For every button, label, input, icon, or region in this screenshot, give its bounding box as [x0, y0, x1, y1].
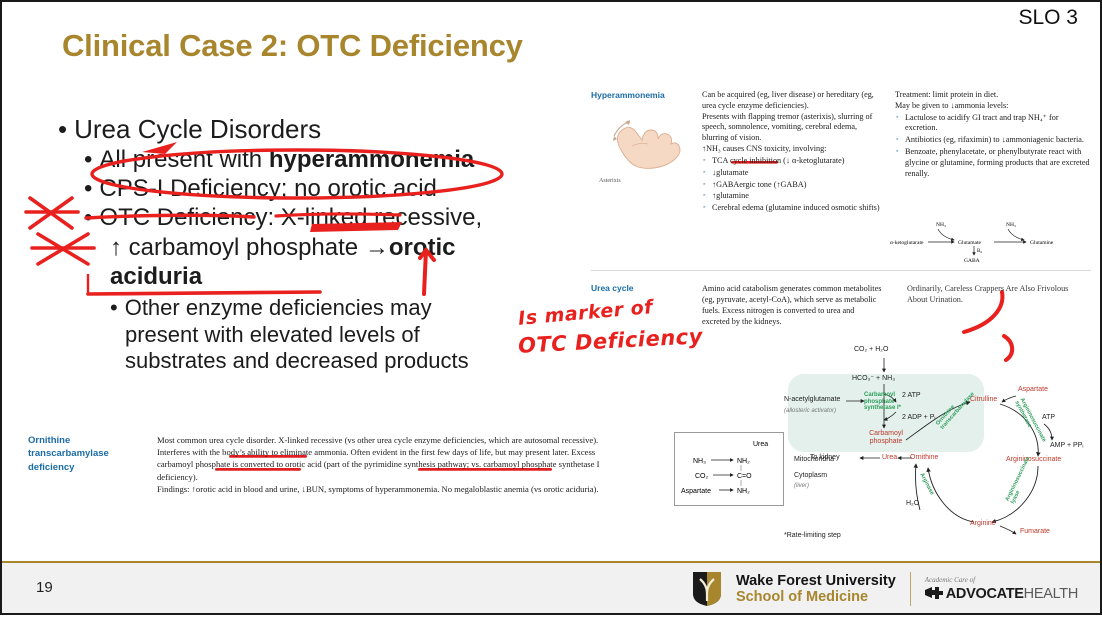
- bullet-text: CPS-I Deficiency; no orotic acid: [99, 175, 436, 203]
- panel-divider: [591, 270, 1091, 271]
- urea-cycle-mnemonic: Ordinarily, Careless Crappers Are Also F…: [907, 283, 1087, 305]
- glutamate-gaba-scheme: NH₃ NH₃ α-ketoglutarate Glutamate Glutam…: [888, 217, 1088, 263]
- asterixis-hand-icon: [602, 106, 688, 178]
- label-aspartate: Aspartate: [1018, 386, 1048, 393]
- bullet-text-prefix: ↑ carbamoyl phosphate →: [110, 234, 389, 261]
- bullet-dot-icon: •: [110, 295, 118, 321]
- scheme-nh3-right: NH₃: [1006, 222, 1016, 228]
- label-2adp-pi: 2 ADP + Pᵢ: [902, 414, 935, 421]
- advocate-thin-text: HEALTH: [1024, 586, 1078, 602]
- bullet-dot-icon: •: [84, 146, 92, 174]
- advocate-tagline: Academic Care of: [925, 576, 1078, 584]
- bullet-dot-icon: •: [84, 204, 92, 232]
- bullet-text-prefix: All present with: [99, 146, 268, 173]
- bullet-text: ↑ carbamoyl phosphate →orotic: [110, 234, 455, 262]
- urea-nh2-top: NH₂: [737, 458, 750, 465]
- footer-divider: [910, 572, 911, 606]
- list-item: Benzoate, phenylacetate, or phenylbutyra…: [905, 147, 1091, 179]
- label-n-acetylglutamate: N-acetylglutamate: [784, 396, 840, 403]
- urea-aspartate: Aspartate: [681, 488, 711, 495]
- urea-c-o: C=O: [737, 473, 752, 480]
- page-number: 19: [36, 579, 53, 596]
- label-amp-pp: AMP + PPᵢ: [1050, 442, 1083, 449]
- hyperammonemia-left-column: Can be acquired (eg, liver disease) or h…: [702, 90, 884, 215]
- advocate-bold-text: ADVOCATE: [946, 586, 1024, 602]
- otc-paragraph-2: Findings: ↑orotic acid in blood and urin…: [157, 483, 627, 495]
- label-urea: Urea: [882, 454, 897, 461]
- bullet-all-present-hyperammonemia: • All present with hyperammonemia: [84, 146, 598, 174]
- bullet-otc-deficiency: • OTC Deficiency: X-linked recessive,: [84, 204, 598, 232]
- footer-logos: Wake Forest University School of Medicin…: [692, 571, 1078, 607]
- scheme-b6: B₆: [977, 249, 982, 254]
- bullet-text-bold: orotic: [389, 234, 456, 261]
- urea-co2: CO₂: [695, 473, 709, 480]
- bullet-text: Urea Cycle Disorders: [74, 114, 321, 145]
- wake-forest-wordmark: Wake Forest University School of Medicin…: [736, 573, 896, 605]
- label-carbamoyl-phosphate: Carbamoyl phosphate: [862, 430, 910, 446]
- bullet-dot-icon: •: [58, 114, 67, 145]
- bullet-otc-line2: ↑ carbamoyl phosphate →orotic: [110, 234, 598, 262]
- wfu-line-1: Wake Forest University: [736, 573, 896, 589]
- page-title: Clinical Case 2: OTC Deficiency: [62, 28, 523, 64]
- list-item: TCA cycle inhibition (↓ α-ketoglutarate): [712, 156, 884, 167]
- label-hco3-nh3: HCO₃⁻ + NH₃: [852, 374, 895, 382]
- label-h2o: H₂O: [906, 500, 919, 507]
- label-co2-h2o: CO₂ + H₂O: [854, 346, 888, 353]
- urea-cycle-description: Amino acid catabolism generates common m…: [702, 283, 882, 327]
- scheme-nh3-left: NH₃: [936, 222, 946, 228]
- label-allosteric-activator: (allosteric activator): [784, 408, 836, 414]
- slo-tag: SLO 3: [1018, 6, 1078, 30]
- slide: SLO 3 Clinical Case 2: OTC Deficiency • …: [0, 0, 1102, 615]
- label-arginine: Arginine: [970, 520, 996, 527]
- list-item: ↓glutamate: [712, 168, 884, 179]
- bullet-text: Other enzyme deficiencies may: [125, 295, 432, 321]
- urea-nh2-bottom: NH₂: [737, 488, 750, 495]
- ha-paragraph-3: ↑NH₃ causes CNS toxicity, involving:: [702, 144, 884, 155]
- slide-footer: 19 Wake Forest University School of Medi…: [2, 561, 1100, 613]
- label-cytoplasm: Cytoplasm: [794, 472, 827, 479]
- ha-paragraph-1: Can be acquired (eg, liver disease) or h…: [702, 90, 884, 112]
- bullet-otc-line3: aciduria: [110, 263, 598, 291]
- wake-forest-shield-icon: [692, 571, 722, 607]
- urea-structure-box: Urea NH₃ NH₂ CO₂ C=O Aspartate NH₂: [674, 432, 784, 506]
- advocate-cross-icon: [925, 586, 943, 600]
- otc-deficiency-body: Most common urea cycle disorder. X-linke…: [157, 434, 627, 495]
- wfu-line-2: School of Medicine: [736, 589, 896, 605]
- label-argininosuccinate: Argininosuccinate: [1006, 456, 1061, 463]
- urea-box-title: Urea: [753, 441, 768, 448]
- label-to-kidney: To kidney: [810, 454, 840, 461]
- urea-cycle-diagram: CO₂ + H₂O HCO₃⁻ + NH₃ 2 ATP 2 ADP + Pᵢ N…: [788, 342, 1096, 542]
- list-item: Antibiotics (eg, rifaximin) to ↓ammoniag…: [905, 135, 1091, 146]
- label-fumarate: Fumarate: [1020, 528, 1050, 535]
- bullet-cps1-deficiency: • CPS-I Deficiency; no orotic acid: [84, 175, 598, 203]
- tx-paragraph-1: Treatment: limit protein in diet.: [895, 90, 1091, 101]
- label-ornithine: Ornithine: [910, 454, 938, 461]
- otc-deficiency-heading: Ornithine transcarbamylase deficiency: [28, 434, 148, 474]
- scheme-gaba: GABA: [964, 258, 980, 263]
- scheme-glutamate: Glutamate: [958, 240, 981, 246]
- hyperammonemia-treatment-column: Treatment: limit protein in diet. May be…: [895, 90, 1091, 181]
- ha-paragraph-2: Presents with flapping tremor (asterixis…: [702, 112, 884, 144]
- list-item: Cerebral edema (glutamine induced osmoti…: [712, 203, 884, 214]
- list-item: Lactulose to acidify GI tract and trap N…: [905, 113, 1091, 135]
- bullet-text: All present with hyperammonemia: [99, 146, 474, 174]
- label-cps1-enzyme: Carbamoyl phosphate synthetase I*: [864, 392, 902, 412]
- label-rate-limiting-footnote: *Rate-limiting step: [784, 532, 841, 539]
- tx-item-list: Lactulose to acidify GI tract and trap N…: [895, 113, 1091, 180]
- bullet-text-bold: hyperammonemia: [269, 146, 474, 173]
- label-liver: (liver): [794, 483, 809, 489]
- label-atp: ATP: [1042, 414, 1055, 421]
- list-item: ↑GABAergic tone (↑GABA): [712, 180, 884, 191]
- urea-nh3: NH₃: [693, 458, 706, 465]
- ha-item-list: TCA cycle inhibition (↓ α-ketoglutarate)…: [702, 156, 884, 214]
- advocate-health-logo: Academic Care of ADVOCATEHEALTH: [925, 576, 1078, 602]
- urea-cycle-heading: Urea cycle: [591, 283, 634, 293]
- list-item: ↑glutamine: [712, 191, 884, 202]
- hyperammonemia-heading: Hyperammonemia: [591, 90, 665, 100]
- scheme-akg: α-ketoglutarate: [890, 240, 924, 246]
- scheme-glutamine: Glutamine: [1030, 240, 1054, 246]
- otc-paragraph-1: Most common urea cycle disorder. X-linke…: [157, 434, 627, 483]
- advocate-wordmark: ADVOCATEHEALTH: [925, 586, 1078, 602]
- asterixis-label: Asterixis: [599, 178, 621, 184]
- bullet-urea-cycle-disorders: • Urea Cycle Disorders: [58, 114, 598, 145]
- bullet-dot-icon: •: [84, 175, 92, 203]
- label-2atp: 2 ATP: [902, 392, 921, 399]
- tx-paragraph-2: May be given to ↓ammonia levels:: [895, 101, 1091, 112]
- bullet-text: OTC Deficiency: X-linked recessive,: [99, 204, 482, 232]
